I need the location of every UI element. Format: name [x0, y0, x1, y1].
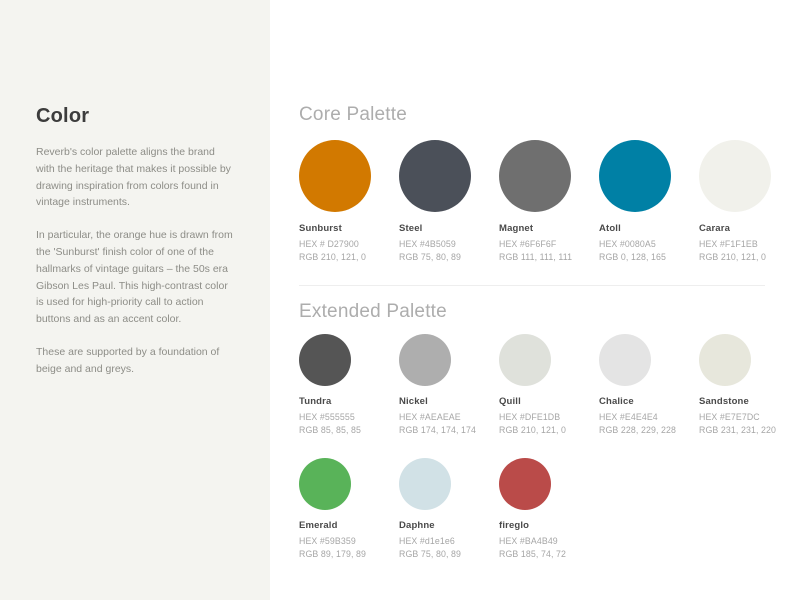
swatch-name: Nickel: [399, 396, 499, 407]
sidebar-content: Color Reverb's color palette aligns the …: [36, 105, 236, 378]
intro-paragraph-3: These are supported by a foundation of b…: [36, 344, 236, 378]
swatch-emerald[interactable]: Emerald HEX #59B359 RGB 89, 179, 89: [299, 458, 399, 559]
swatch-hex: HEX #555555: [299, 412, 399, 422]
color-swatch-circle: [499, 140, 571, 212]
intro-paragraph-1: Reverb's color palette aligns the brand …: [36, 144, 236, 211]
swatch-rgb: RGB 210, 121, 0: [299, 252, 399, 262]
swatch-name: Quill: [499, 396, 599, 407]
swatch-rgb: RGB 75, 80, 89: [399, 252, 499, 262]
swatch-hex: HEX #BA4B49: [499, 536, 599, 546]
swatch-hex: HEX #d1e1e6: [399, 536, 499, 546]
swatch-carara[interactable]: Carara HEX #F1F1EB RGB 210, 121, 0: [699, 140, 799, 262]
swatch-hex: HEX #4B5059: [399, 239, 499, 249]
swatch-sunburst[interactable]: Sunburst HEX # D27900 RGB 210, 121, 0: [299, 140, 399, 262]
swatch-rgb: RGB 111, 111, 111: [499, 252, 599, 262]
swatch-hex: HEX # D27900: [299, 239, 399, 249]
swatch-hex: HEX #E7E7DC: [699, 412, 799, 422]
swatch-name: Tundra: [299, 396, 399, 407]
swatch-atoll[interactable]: Atoll HEX #0080A5 RGB 0, 128, 165: [599, 140, 699, 262]
swatch-rgb: RGB 210, 121, 0: [499, 425, 599, 435]
color-swatch-circle: [599, 334, 651, 386]
page-title: Color: [36, 105, 236, 128]
color-swatch-circle: [499, 458, 551, 510]
swatch-hex: HEX #DFE1DB: [499, 412, 599, 422]
swatch-rgb: RGB 75, 80, 89: [399, 549, 499, 559]
extended-palette-row-2: Emerald HEX #59B359 RGB 89, 179, 89 Daph…: [299, 458, 599, 559]
swatch-name: Emerald: [299, 520, 399, 531]
extended-palette-row-1: Tundra HEX #555555 RGB 85, 85, 85 Nickel…: [299, 334, 799, 435]
swatch-hex: HEX #6F6F6F: [499, 239, 599, 249]
swatch-rgb: RGB 89, 179, 89: [299, 549, 399, 559]
palette-content: Core Palette Sunburst HEX # D27900 RGB 2…: [299, 0, 800, 600]
swatch-hex: HEX #59B359: [299, 536, 399, 546]
swatch-name: Chalice: [599, 396, 699, 407]
color-swatch-circle: [299, 334, 351, 386]
swatch-name: fireglo: [499, 520, 599, 531]
swatch-nickel[interactable]: Nickel HEX #AEAEAE RGB 174, 174, 174: [399, 334, 499, 435]
color-swatch-circle: [699, 334, 751, 386]
swatch-hex: HEX #AEAEAE: [399, 412, 499, 422]
swatch-daphne[interactable]: Daphne HEX #d1e1e6 RGB 75, 80, 89: [399, 458, 499, 559]
sidebar: Color Reverb's color palette aligns the …: [0, 0, 270, 600]
color-swatch-circle: [399, 334, 451, 386]
swatch-hex: HEX #F1F1EB: [699, 239, 799, 249]
swatch-sandstone[interactable]: Sandstone HEX #E7E7DC RGB 231, 231, 220: [699, 334, 799, 435]
swatch-name: Magnet: [499, 223, 599, 234]
swatch-rgb: RGB 228, 229, 228: [599, 425, 699, 435]
swatch-rgb: RGB 210, 121, 0: [699, 252, 799, 262]
color-swatch-circle: [499, 334, 551, 386]
swatch-name: Carara: [699, 223, 799, 234]
swatch-rgb: RGB 185, 74, 72: [499, 549, 599, 559]
core-palette-heading: Core Palette: [299, 104, 407, 126]
color-swatch-circle: [399, 458, 451, 510]
color-swatch-circle: [399, 140, 471, 212]
swatch-quill[interactable]: Quill HEX #DFE1DB RGB 210, 121, 0: [499, 334, 599, 435]
color-swatch-circle: [699, 140, 771, 212]
swatch-rgb: RGB 85, 85, 85: [299, 425, 399, 435]
swatch-steel[interactable]: Steel HEX #4B5059 RGB 75, 80, 89: [399, 140, 499, 262]
swatch-name: Sunburst: [299, 223, 399, 234]
core-palette-row: Sunburst HEX # D27900 RGB 210, 121, 0 St…: [299, 140, 799, 262]
swatch-name: Sandstone: [699, 396, 799, 407]
color-swatch-circle: [299, 140, 371, 212]
swatch-rgb: RGB 231, 231, 220: [699, 425, 799, 435]
swatch-fireglo[interactable]: fireglo HEX #BA4B49 RGB 185, 74, 72: [499, 458, 599, 559]
color-swatch-circle: [299, 458, 351, 510]
swatch-rgb: RGB 174, 174, 174: [399, 425, 499, 435]
color-swatch-circle: [599, 140, 671, 212]
intro-paragraph-2: In particular, the orange hue is drawn f…: [36, 227, 236, 328]
swatch-magnet[interactable]: Magnet HEX #6F6F6F RGB 111, 111, 111: [499, 140, 599, 262]
swatch-rgb: RGB 0, 128, 165: [599, 252, 699, 262]
extended-palette-heading: Extended Palette: [299, 301, 447, 323]
swatch-hex: HEX #0080A5: [599, 239, 699, 249]
section-divider: [299, 285, 765, 286]
swatch-hex: HEX #E4E4E4: [599, 412, 699, 422]
swatch-chalice[interactable]: Chalice HEX #E4E4E4 RGB 228, 229, 228: [599, 334, 699, 435]
swatch-name: Steel: [399, 223, 499, 234]
swatch-tundra[interactable]: Tundra HEX #555555 RGB 85, 85, 85: [299, 334, 399, 435]
swatch-name: Atoll: [599, 223, 699, 234]
swatch-name: Daphne: [399, 520, 499, 531]
style-guide-page: Color Reverb's color palette aligns the …: [0, 0, 800, 600]
